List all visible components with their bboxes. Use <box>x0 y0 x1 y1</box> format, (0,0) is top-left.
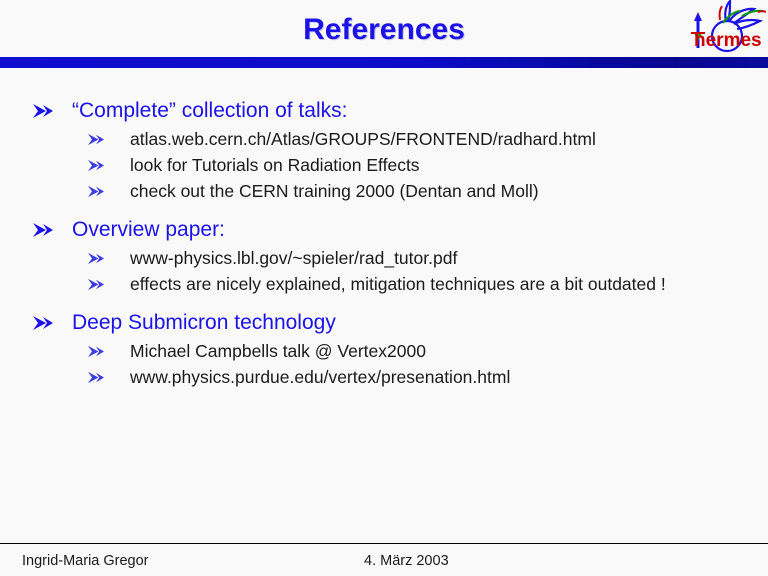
bullet-level2-label: effects are nicely explained, mitigation… <box>130 272 710 297</box>
bullet-level2-label: look for Tutorials on Radiation Effects <box>130 153 710 178</box>
bullet-level2-label: www-physics.lbl.gov/~spieler/rad_tutor.p… <box>130 246 710 271</box>
bullet-level2: Michael Campbells talk @ Vertex2000 <box>0 339 768 365</box>
bullet-group: Deep Submicron technology Michael Campbe… <box>0 308 768 391</box>
bullet-group: Overview paper: www-physics.lbl.gov/~spi… <box>0 215 768 298</box>
bullet-level1-label: Overview paper: <box>72 215 768 244</box>
bullet-level2-label: check out the CERN training 2000 (Dentan… <box>130 179 710 204</box>
bullet-level1-label: “Complete” collection of talks: <box>72 96 768 125</box>
slide-header: References <box>0 0 768 57</box>
bullet-level2: effects are nicely explained, mitigation… <box>0 272 768 298</box>
page-title: References <box>0 13 768 47</box>
bullet-level1: Deep Submicron technology <box>0 308 768 337</box>
footer-author: Ingrid-Maria Gregor <box>22 553 149 569</box>
footer-divider <box>0 543 768 544</box>
bullet-level2: www.physics.purdue.edu/vertex/presenatio… <box>0 365 768 391</box>
bullet-level1-label: Deep Submicron technology <box>72 308 768 337</box>
bullet-arrow-icon <box>88 252 104 265</box>
bullet-arrow-icon <box>33 315 53 331</box>
slide-body: “Complete” collection of talks: atlas.we… <box>0 96 768 395</box>
bullet-group: “Complete” collection of talks: atlas.we… <box>0 96 768 205</box>
bullet-arrow-icon <box>88 133 104 146</box>
bullet-arrow-icon <box>33 222 53 238</box>
logo-wordmark: hermes <box>694 30 762 51</box>
bullet-arrow-icon <box>88 345 104 358</box>
bullet-level2-label: Michael Campbells talk @ Vertex2000 <box>130 339 710 364</box>
bullet-level1: “Complete” collection of talks: <box>0 96 768 125</box>
bullet-level2: www-physics.lbl.gov/~spieler/rad_tutor.p… <box>0 246 768 272</box>
bullet-arrow-icon <box>88 159 104 172</box>
bullet-arrow-icon <box>88 185 104 198</box>
bullet-level2: look for Tutorials on Radiation Effects <box>0 153 768 179</box>
bullet-level2-label: www.physics.purdue.edu/vertex/presenatio… <box>130 365 710 390</box>
footer-date: 4. März 2003 <box>364 553 449 569</box>
header-divider-bar <box>0 57 768 68</box>
bullet-level1: Overview paper: <box>0 215 768 244</box>
bullet-level2: atlas.web.cern.ch/Atlas/GROUPS/FRONTEND/… <box>0 127 768 153</box>
slide-footer: Ingrid-Maria Gregor 4. März 2003 <box>0 550 768 576</box>
bullet-level2: check out the CERN training 2000 (Dentan… <box>0 179 768 205</box>
bullet-arrow-icon <box>88 278 104 291</box>
bullet-level2-label: atlas.web.cern.ch/Atlas/GROUPS/FRONTEND/… <box>130 127 710 152</box>
bullet-arrow-icon <box>88 371 104 384</box>
bullet-arrow-icon <box>33 103 53 119</box>
hermes-logo: hermes <box>670 0 766 60</box>
hermes-logo-icon: hermes <box>670 0 766 60</box>
